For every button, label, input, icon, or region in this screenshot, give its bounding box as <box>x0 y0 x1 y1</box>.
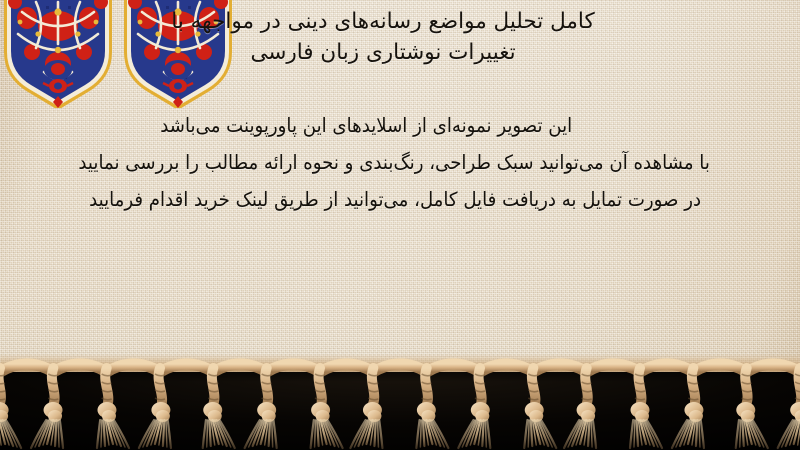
slide-title: کامل تحلیل مواضع رسانه‌های دینی در مواجه… <box>0 6 766 68</box>
body-line-2: با مشاهده آن می‌توانید سبک طراحی، رنگ‌بن… <box>28 144 765 181</box>
title-line-2: تغییرات نوشتاری زبان فارسی <box>0 37 766 68</box>
bottom-black-band <box>0 372 800 450</box>
title-line-1: کامل تحلیل مواضع رسانه‌های دینی در مواجه… <box>0 6 766 37</box>
band-shadow <box>0 372 800 382</box>
slide-body: این تصویر نمونه‌ای از اسلایدهای این پاور… <box>0 107 792 218</box>
carpet-bottom-edge <box>0 354 800 372</box>
slide-canvas: کامل تحلیل مواضع رسانه‌های دینی در مواجه… <box>0 0 800 450</box>
body-line-3: در صورت تمایل به دریافت فایل کامل، می‌تو… <box>28 181 765 218</box>
body-line-1: این تصویر نمونه‌ای از اسلایدهای این پاور… <box>28 107 765 144</box>
